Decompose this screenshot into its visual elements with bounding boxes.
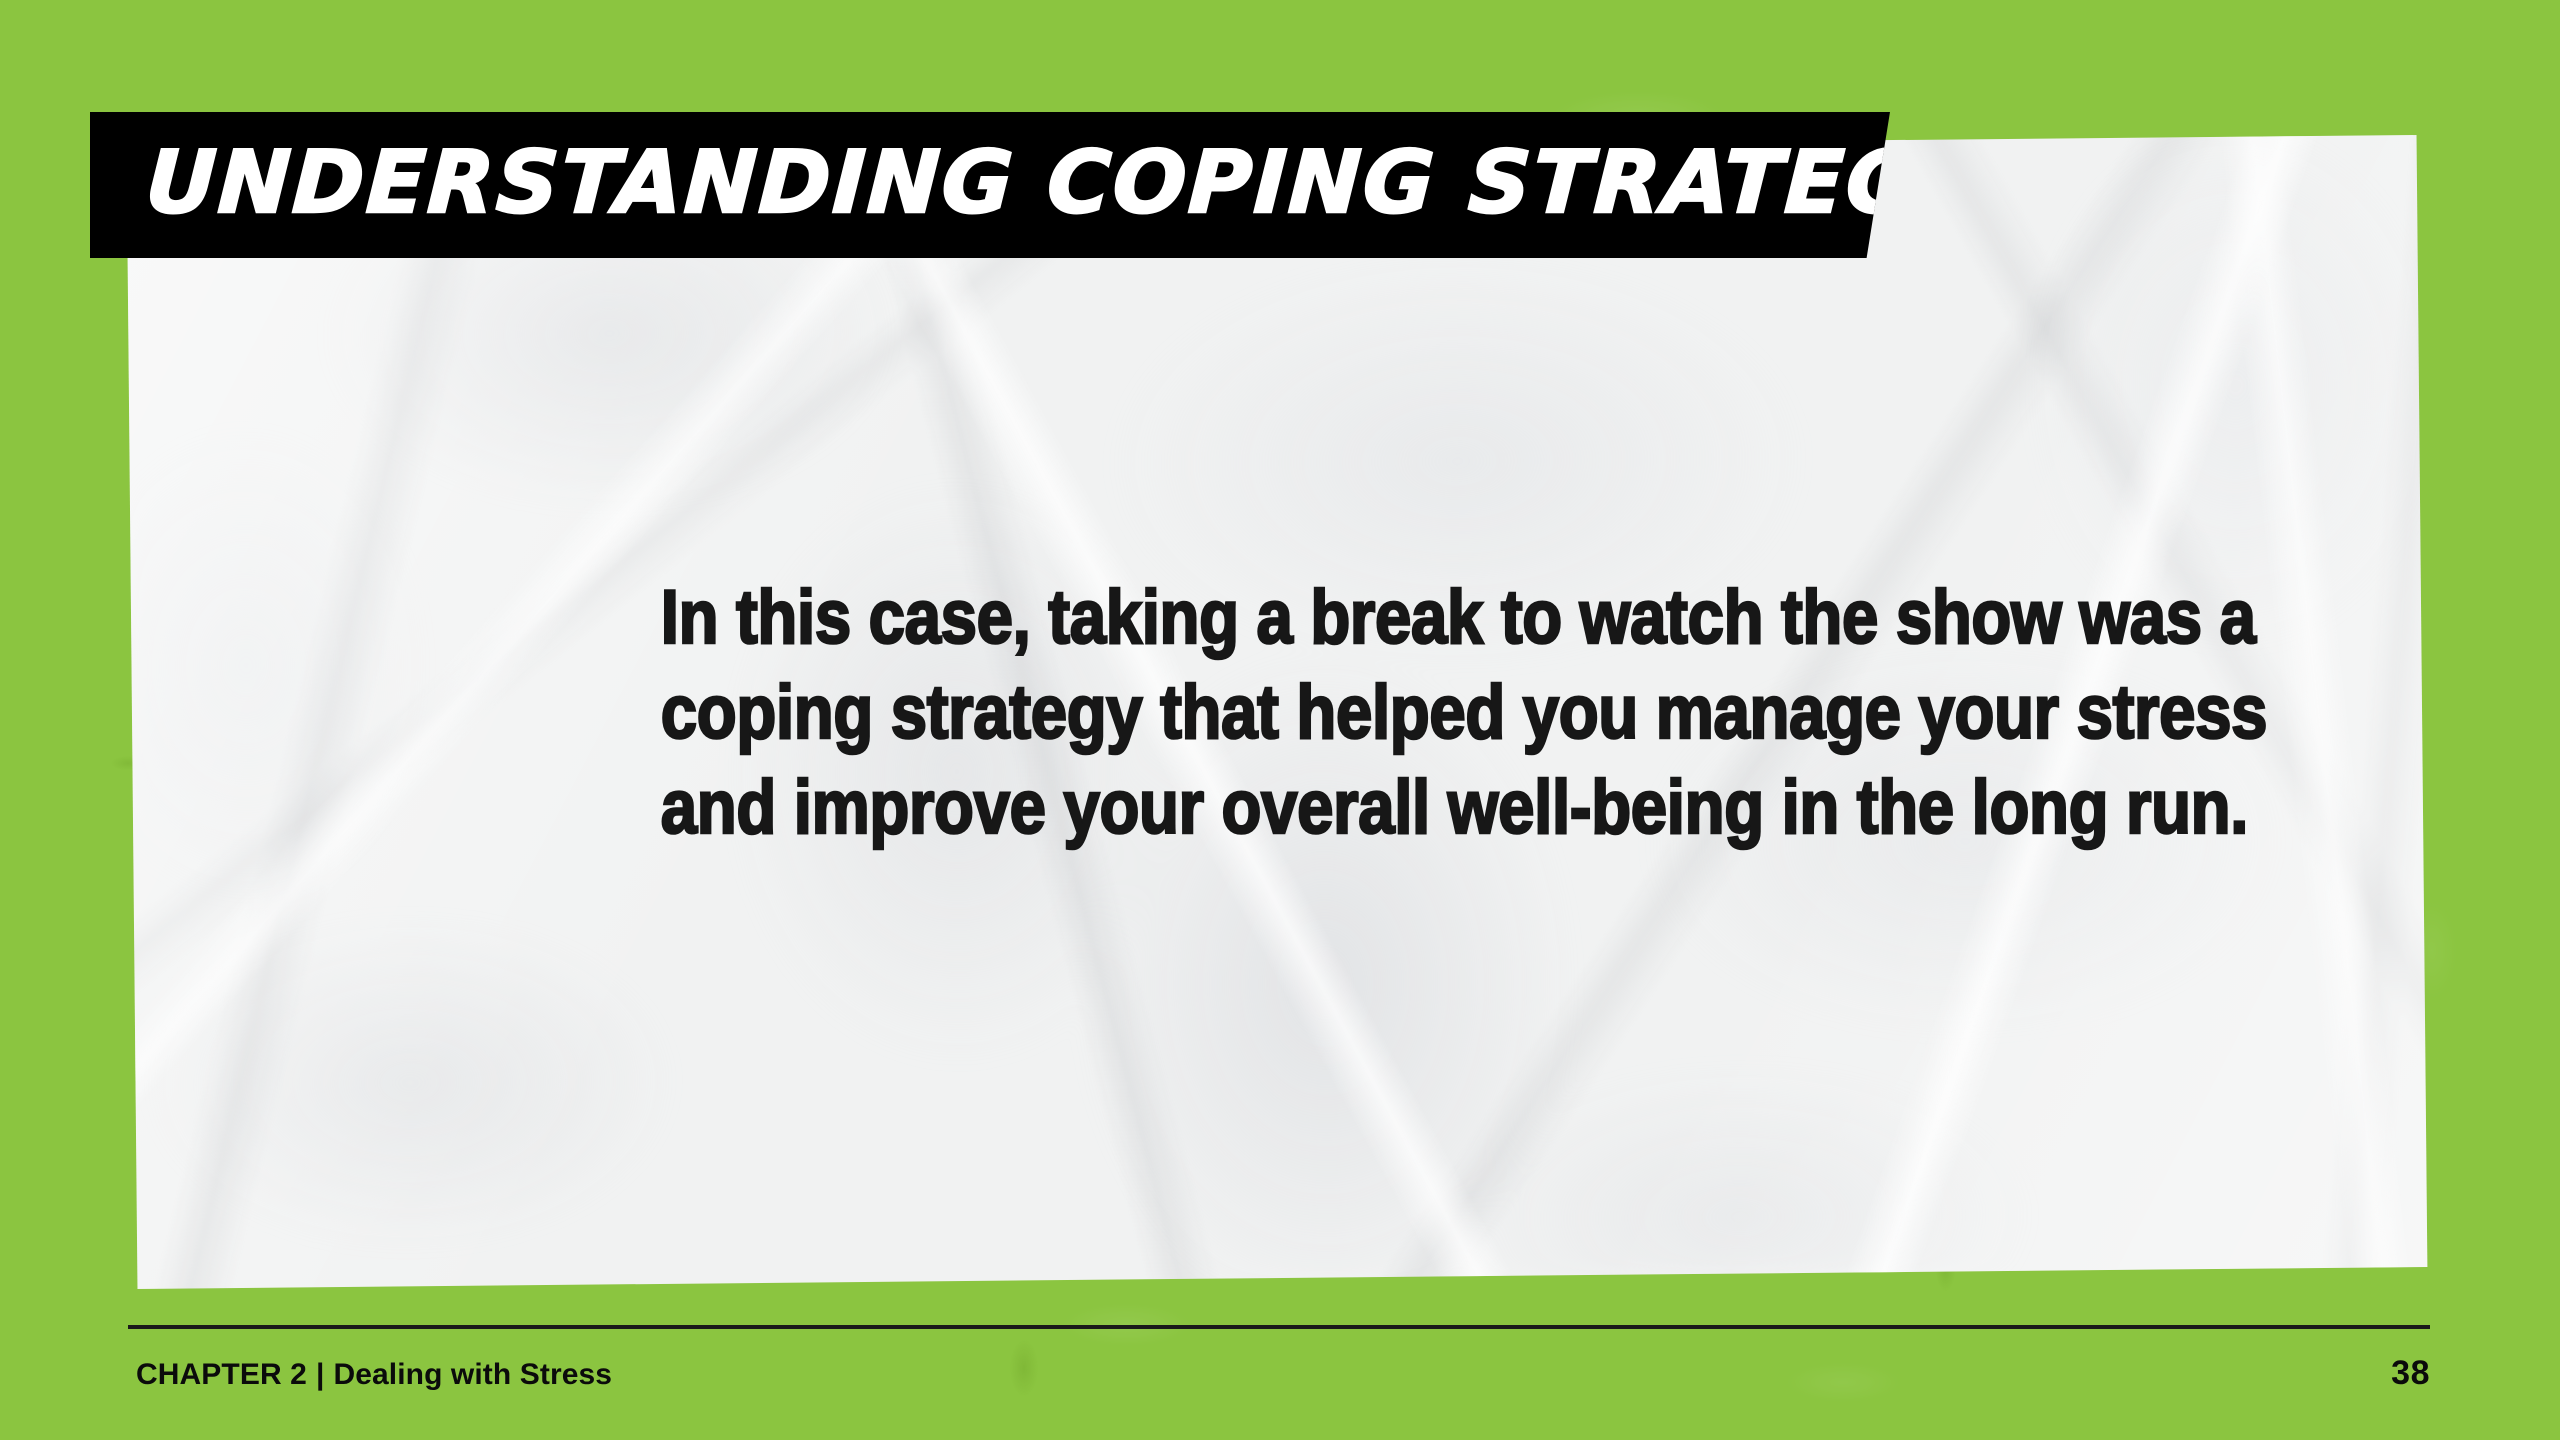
title-banner: UNDERSTANDING COPING STRATEGIES xyxy=(90,112,1890,258)
footer-chapter-title: Dealing with Stress xyxy=(333,1358,612,1392)
slide-canvas: UNDERSTANDING COPING STRATEGIES In this … xyxy=(0,0,2560,1440)
body-line: and improve your overall well-being in t… xyxy=(661,760,1899,855)
body-line: In this case, taking a break to watch th… xyxy=(661,570,1899,665)
footer-chapter-label: CHAPTER 2 xyxy=(136,1358,307,1392)
footer-separator: | xyxy=(307,1358,334,1392)
page-title: UNDERSTANDING COPING STRATEGIES xyxy=(88,140,2082,226)
body-line: coping strategy that helped you manage y… xyxy=(661,665,1899,760)
footer-chapter: CHAPTER 2 | Dealing with Stress xyxy=(136,1358,612,1392)
footer-divider xyxy=(128,1325,2430,1329)
body-text-block: In this case, taking a break to watch th… xyxy=(560,570,2000,855)
page-number: 38 xyxy=(2391,1354,2430,1393)
